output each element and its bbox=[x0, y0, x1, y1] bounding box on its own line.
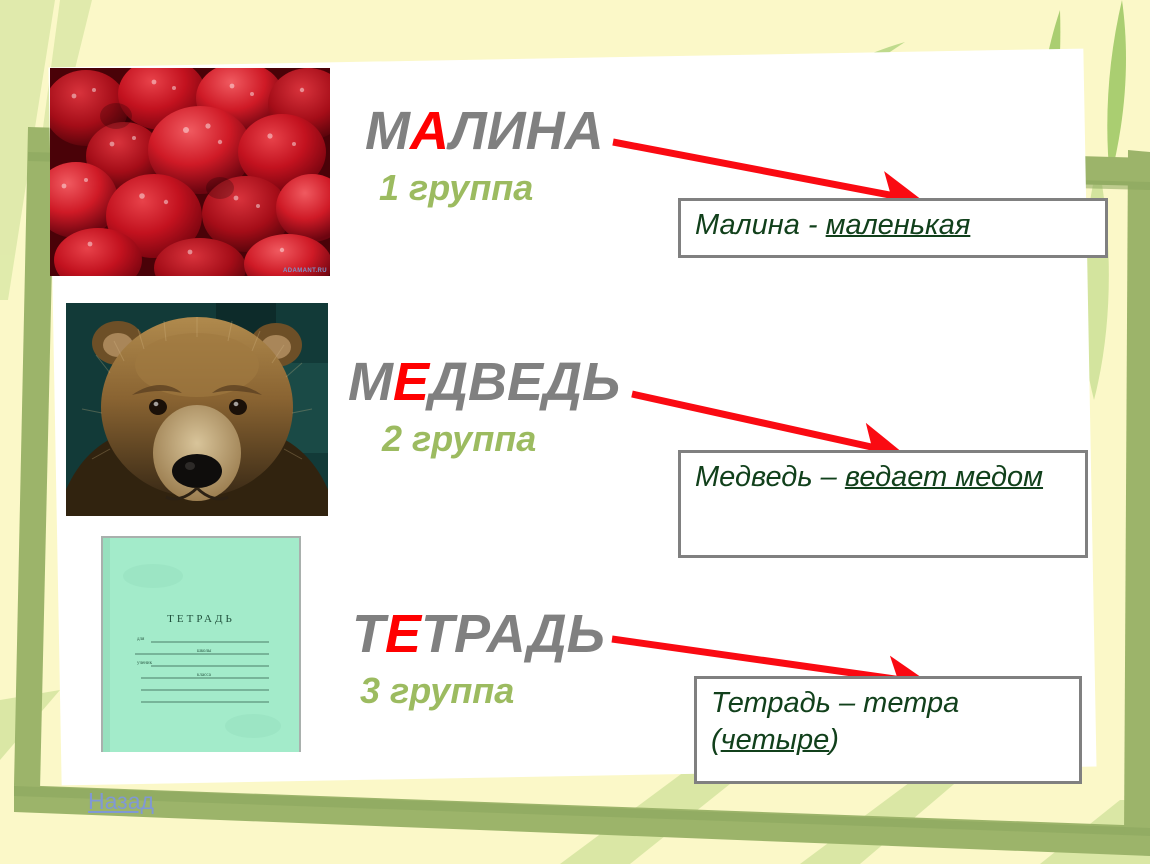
word-title-highlight: Е bbox=[385, 604, 421, 664]
notebook-illustration: ТЕТРАДЬ для ученик класса школы bbox=[93, 530, 309, 756]
word-title-suffix: ТРАДЬ bbox=[421, 604, 605, 664]
word-title-highlight: Е bbox=[393, 352, 429, 412]
explanation-plain: Малина - bbox=[695, 209, 826, 241]
raspberries-illustration bbox=[50, 68, 330, 276]
back-link[interactable]: Назад bbox=[88, 788, 154, 815]
word-title-suffix: ДВЕДЬ bbox=[429, 352, 620, 412]
word-title-highlight: А bbox=[410, 101, 450, 161]
bear-photo bbox=[66, 303, 328, 516]
explanation-tail: ) bbox=[829, 724, 839, 756]
explanation-box-malina: Малина - маленькая bbox=[678, 198, 1108, 258]
explanation-box-tetrad: Тетрадь – тетра (четыре) bbox=[694, 676, 1082, 784]
group-label-tetrad: 3 группа bbox=[360, 673, 605, 709]
word-block-tetrad: ТЕТРАДЬ 3 группа bbox=[352, 607, 605, 709]
word-title-tetrad: ТЕТРАДЬ bbox=[352, 607, 605, 661]
bear-illustration bbox=[66, 303, 328, 516]
group-label-medved: 2 группа bbox=[382, 421, 620, 457]
explanation-plain: Медведь – bbox=[695, 461, 845, 493]
word-title-medved: МЕДВЕДЬ bbox=[348, 355, 620, 409]
word-title-malina: МАЛИНА bbox=[365, 104, 604, 158]
svg-text:класса: класса bbox=[197, 673, 212, 678]
word-title-prefix: Т bbox=[352, 604, 385, 664]
word-title-prefix: М bbox=[348, 352, 393, 412]
presentation-slide: ADAMANT.RU bbox=[0, 0, 1150, 864]
word-title-prefix: М bbox=[365, 101, 410, 161]
explanation-underlined: маленькая bbox=[826, 209, 971, 241]
raspberries-photo: ADAMANT.RU bbox=[50, 68, 330, 276]
image-watermark: ADAMANT.RU bbox=[283, 268, 327, 274]
explanation-box-medved: Медведь – ведает медом bbox=[678, 450, 1088, 558]
word-title-suffix: ЛИНА bbox=[450, 101, 604, 161]
word-block-medved: МЕДВЕДЬ 2 группа bbox=[348, 355, 620, 457]
explanation-underlined: четыре bbox=[721, 724, 830, 756]
svg-text:для: для bbox=[137, 637, 145, 642]
explanation-underlined: ведает медом bbox=[845, 461, 1043, 493]
svg-text:ТЕТРАДЬ: ТЕТРАДЬ bbox=[167, 613, 235, 625]
group-label-malina: 1 группа bbox=[379, 170, 604, 206]
notebook-photo: ТЕТРАДЬ для ученик класса школы bbox=[93, 530, 309, 756]
svg-text:ученик: ученик bbox=[137, 661, 153, 666]
word-block-malina: МАЛИНА 1 группа bbox=[365, 104, 604, 206]
svg-text:школы: школы bbox=[197, 649, 212, 654]
